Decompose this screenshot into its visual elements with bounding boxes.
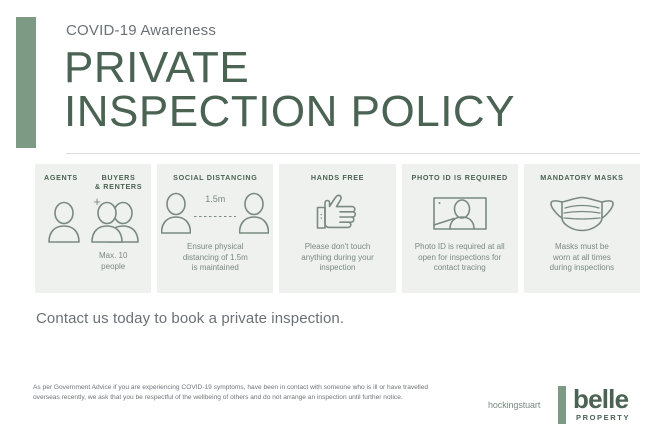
card-title-renters: & RENTERS xyxy=(95,182,142,191)
card-body-social-distancing: Ensure physical distancing of 1.5m is ma… xyxy=(177,242,254,274)
belle-logo-subtitle: PROPERTY xyxy=(576,413,630,422)
card-hands-free: HANDS FREE Please don't touch anything d… xyxy=(279,164,395,293)
policy-cards-row: AGENTS BUYERS & RENTERS xyxy=(35,164,640,293)
distance-dotted-line xyxy=(194,216,236,217)
card-body-mandatory-masks: Masks must be worn at all times during i… xyxy=(544,242,620,274)
eyebrow-text: COVID-19 Awareness xyxy=(66,22,216,39)
face-mask-icon xyxy=(548,190,616,236)
accent-bar xyxy=(16,17,36,148)
card-title-buyers: BUYERS xyxy=(102,173,136,182)
disclaimer-text: As per Government Advice if you are expe… xyxy=(33,383,433,402)
hand-icon xyxy=(311,190,365,236)
card-title-hands-free: HANDS FREE xyxy=(311,173,364,182)
page-title-line-2: INSPECTION POLICY xyxy=(64,90,654,134)
card-photo-id: PHOTO ID IS REQUIRED Photo ID is require… xyxy=(402,164,518,293)
hockingstuart-logo: hockingstuart xyxy=(488,400,540,410)
social-distancing-icon: 1.5m xyxy=(161,190,269,236)
plus-icon: + xyxy=(93,195,101,208)
card-body-agents-buyers: Max. 10 people xyxy=(79,251,151,272)
card-mandatory-masks: MANDATORY MASKS Masks must be worn at al… xyxy=(524,164,640,293)
card-title-agents: AGENTS xyxy=(44,173,78,191)
belle-logo-word: belle xyxy=(573,385,628,413)
header-divider xyxy=(66,153,640,154)
card-title-buyers-renters: BUYERS & RENTERS xyxy=(95,173,142,191)
card-title-photo-id: PHOTO ID IS REQUIRED xyxy=(412,173,508,182)
cta-text: Contact us today to book a private inspe… xyxy=(36,310,344,327)
poster-canvas: COVID-19 Awareness PRIVATE INSPECTION PO… xyxy=(0,0,660,440)
belle-logo-bar xyxy=(558,386,566,424)
logo-lockup: hockingstuart belle PROPERTY xyxy=(488,386,643,428)
distance-label: 1.5m xyxy=(205,194,225,204)
photo-id-card-icon xyxy=(432,190,488,236)
distance-graphic: 1.5m xyxy=(161,192,269,234)
card-social-distancing: SOCIAL DISTANCING 1.5m Ensure physical d… xyxy=(157,164,273,293)
card-title-split: AGENTS BUYERS & RENTERS xyxy=(35,173,151,191)
card-body-hands-free: Please don't touch anything during your … xyxy=(295,242,380,274)
card-title-social-distancing: SOCIAL DISTANCING xyxy=(173,173,257,182)
page-title-line-1: PRIVATE xyxy=(64,43,249,92)
card-agents-buyers: AGENTS BUYERS & RENTERS xyxy=(35,164,151,293)
page-title: PRIVATE INSPECTION POLICY xyxy=(64,46,654,134)
card-title-mandatory-masks: MANDATORY MASKS xyxy=(540,173,623,182)
card-body-photo-id: Photo ID is required at all open for ins… xyxy=(409,242,511,274)
